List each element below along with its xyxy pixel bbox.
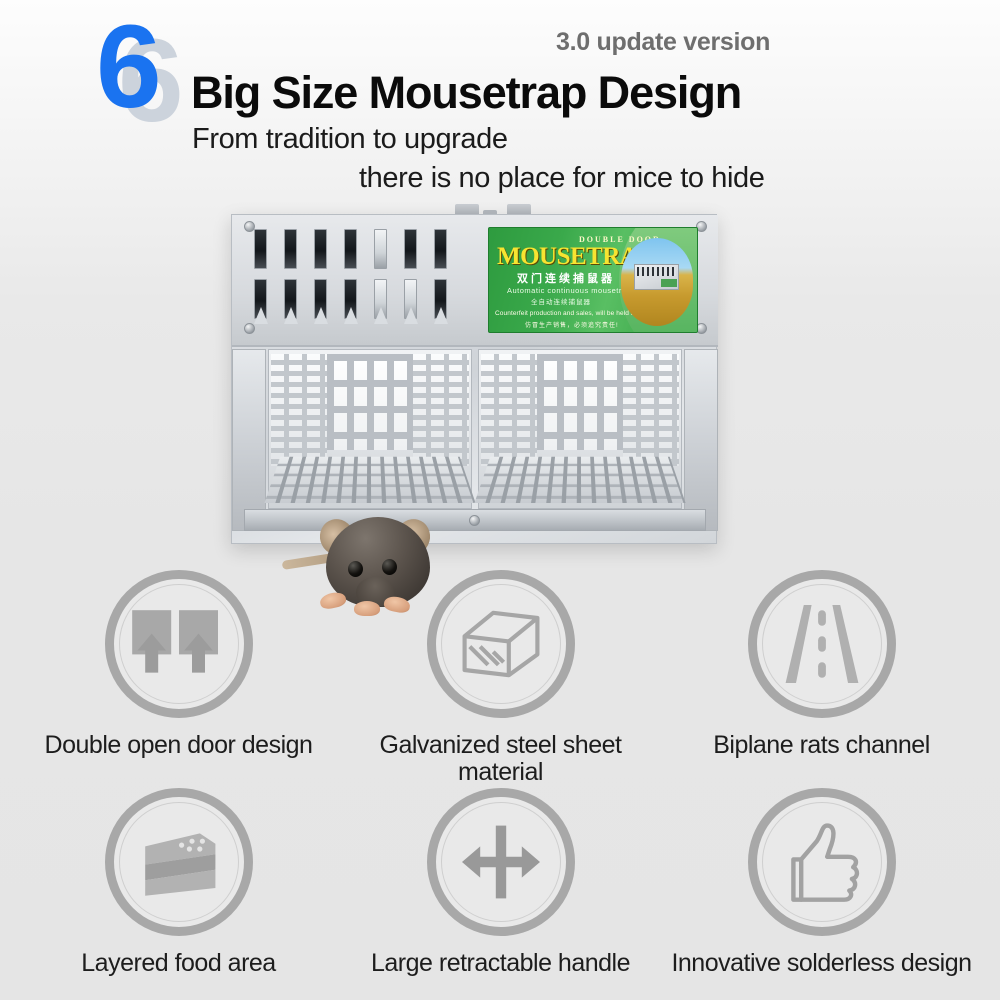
mouse-paw (354, 601, 380, 616)
feature-icon-circle (748, 570, 896, 718)
cage-chamber-right (478, 349, 682, 509)
retractable-handle-icon (436, 797, 566, 927)
feature-solderless-design: Innovative solderless design (655, 788, 988, 977)
feature-icon-circle (748, 788, 896, 936)
cage-body: DOUBLE DOOR MOUSETRAP 双门连续捕鼠器 Automatic … (231, 214, 717, 544)
label-tagline-cn: 全自动连续捕鼠器 (531, 296, 591, 306)
version-tag: 3.0 update version (556, 28, 770, 57)
perforated-floor-icon (474, 457, 685, 503)
page-title: Big Size Mousetrap Design (191, 67, 741, 119)
grill-wall-icon (271, 354, 327, 466)
product-label: DOUBLE DOOR MOUSETRAP 双门连续捕鼠器 Automatic … (488, 227, 698, 333)
mini-cage-icon (634, 264, 679, 290)
label-warning-cn: 仿冒生产销售，必须追究责任! (525, 320, 619, 329)
grill-wall-icon (623, 354, 679, 466)
mouse-eye-right (382, 559, 397, 575)
mouse-eye-left (348, 561, 363, 577)
label-tagline-en: Automatic continuous mousetrap (507, 286, 631, 295)
rivet-icon (469, 515, 480, 526)
feature-label: Large retractable handle (334, 950, 667, 977)
feature-grid: Double open door design Galvanized steel… (0, 570, 1000, 1000)
feature-label: Innovative solderless design (655, 950, 988, 977)
feature-retractable-handle: Large retractable handle (334, 788, 667, 977)
label-product-thumbnail (621, 238, 693, 326)
cage-lower-section (232, 349, 718, 545)
feature-icon-circle (427, 788, 575, 936)
subtitle-line-2: there is no place for mice to hide (359, 162, 765, 195)
badge-number: 6 (96, 8, 158, 126)
thumbs-up-icon (757, 797, 887, 927)
cage-side-right (684, 349, 718, 531)
road-channel-icon (757, 579, 887, 709)
feature-icon-circle (105, 788, 253, 936)
cage-chamber-left (268, 349, 472, 509)
product-photo: DOUBLE DOOR MOUSETRAP 双门连续捕鼠器 Automatic … (225, 196, 725, 556)
feature-double-open-door: Double open door design (12, 570, 345, 759)
feature-icon-circle (105, 570, 253, 718)
feature-biplane-channel: Biplane rats channel (655, 570, 988, 759)
perforated-floor-icon (264, 457, 475, 503)
double-door-icon (114, 579, 244, 709)
header-banner: 6 6 3.0 update version Big Size Mousetra… (0, 0, 1000, 205)
feature-label: Layered food area (12, 950, 345, 977)
feature-label: Biplane rats channel (655, 732, 988, 759)
mouse-paw (319, 590, 348, 610)
feature-icon-circle (427, 570, 575, 718)
mouse-photo (310, 501, 442, 619)
back-grill-icon (327, 354, 413, 450)
back-grill-icon (537, 354, 623, 450)
layered-cake-icon (114, 797, 244, 927)
cage-side-left (232, 349, 266, 531)
steel-sheet-box-icon (436, 579, 566, 709)
cage-top-panel: DOUBLE DOOR MOUSETRAP 双门连续捕鼠器 Automatic … (232, 215, 718, 347)
subtitle-line-1: From tradition to upgrade (192, 123, 508, 156)
feature-label: Galvanized steel sheet material (334, 732, 667, 786)
feature-label: Double open door design (12, 732, 345, 759)
ventilation-grid (254, 229, 478, 333)
grill-wall-icon (481, 354, 537, 466)
grill-wall-icon (413, 354, 469, 466)
feature-layered-food-area: Layered food area (12, 788, 345, 977)
label-chinese-title: 双门连续捕鼠器 (517, 270, 615, 286)
